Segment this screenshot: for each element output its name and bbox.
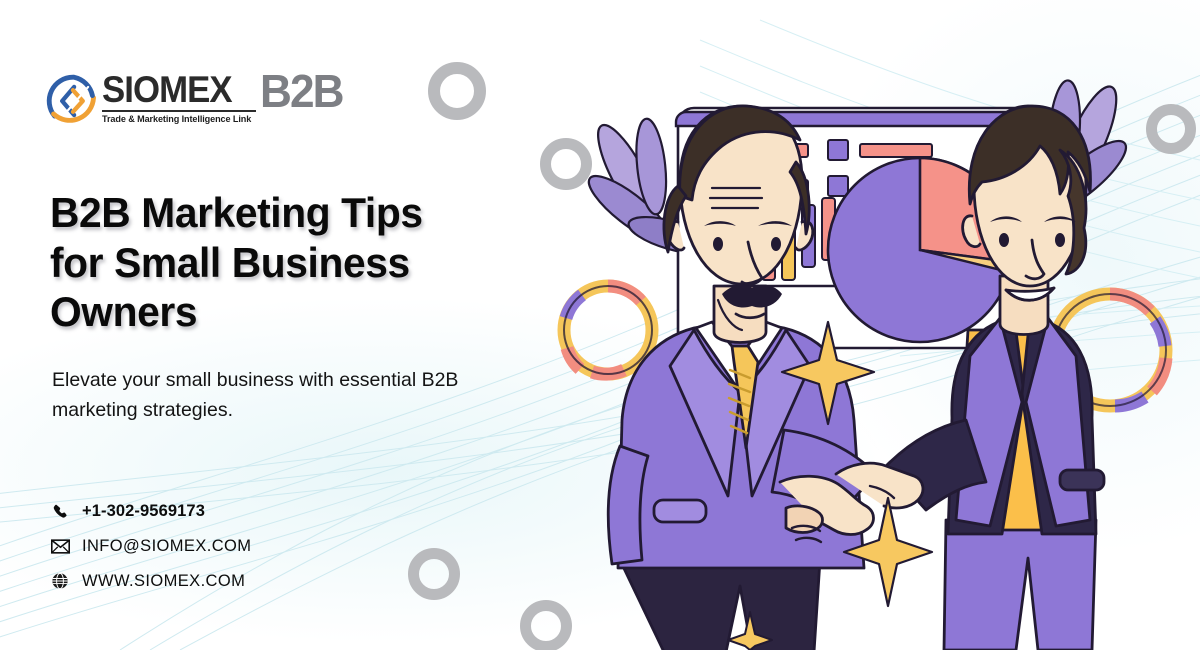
contact-row-website[interactable]: WWW.SIOMEX.COM <box>48 570 251 592</box>
headline-line-2: for Small Business <box>50 238 506 288</box>
globe-icon <box>48 570 72 592</box>
marketing-banner: SIOMEX Trade & Marketing Intelligence Li… <box>0 0 1200 650</box>
headline-line-1: B2B Marketing Tips <box>50 188 506 238</box>
siomex-swoosh-logo-icon <box>46 74 100 128</box>
two-businessmen-handshake-illustration <box>500 0 1200 650</box>
decorative-ring-icon <box>408 548 460 600</box>
brand-tagline: Trade & Marketing Intelligence Link <box>102 113 251 124</box>
contact-website-label: WWW.SIOMEX.COM <box>82 572 245 591</box>
headline-line-3: Owners <box>50 287 506 337</box>
brand-suffix: B2B <box>260 71 343 111</box>
page-subtitle: Elevate your small business with essenti… <box>52 366 492 425</box>
contact-phone-label: +1-302-9569173 <box>82 502 205 521</box>
phone-icon <box>48 500 72 522</box>
page-title: B2B Marketing Tips for Small Business Ow… <box>50 188 506 337</box>
decorative-ring-icon <box>428 62 486 120</box>
contact-email-label: INFO@SIOMEX.COM <box>82 537 251 556</box>
brand-name: SIOMEX <box>102 72 247 108</box>
contact-row-phone[interactable]: +1-302-9569173 <box>48 500 251 522</box>
segmented-ring-left <box>564 286 652 374</box>
contact-list: +1-302-9569173 INFO@SIOMEX.COM <box>48 500 251 605</box>
contact-row-email[interactable]: INFO@SIOMEX.COM <box>48 535 251 557</box>
envelope-icon <box>48 535 72 557</box>
brand-logo[interactable]: SIOMEX Trade & Marketing Intelligence Li… <box>46 72 346 128</box>
